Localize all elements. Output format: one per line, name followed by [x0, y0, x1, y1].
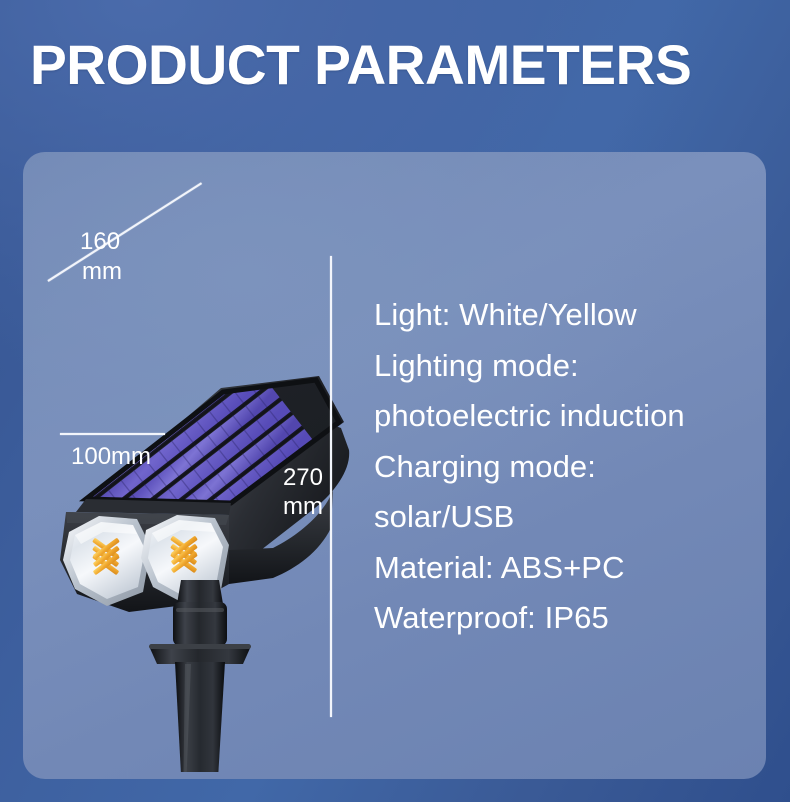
- page-title: PRODUCT PARAMETERS: [30, 34, 755, 96]
- spec-line-lighting-mode-label: Lighting mode:: [374, 341, 754, 392]
- ground-stake: [175, 662, 225, 772]
- product-info-card: 160 mm 100mm 270 mm Light: White/Yellow …: [23, 152, 766, 779]
- dimension-label-height: 270 mm: [279, 463, 323, 521]
- title-bar: PRODUCT PARAMETERS: [0, 34, 790, 104]
- spec-line-material: Material: ABS+PC: [374, 543, 754, 594]
- dimension-line-depth: [60, 433, 165, 435]
- dimension-height-unit: mm: [279, 492, 323, 521]
- spec-line-waterproof: Waterproof: IP65: [374, 593, 754, 644]
- dimension-width-value: 160: [80, 228, 120, 255]
- dimension-label-depth: 100mm: [71, 442, 151, 472]
- dimension-label-width: 160 mm: [80, 227, 122, 287]
- dimension-width-unit: mm: [82, 257, 122, 287]
- led-lens-left: [63, 516, 151, 606]
- spec-line-charging-mode-value: solar/USB: [374, 492, 754, 543]
- product-parameters-page: PRODUCT PARAMETERS: [0, 0, 790, 802]
- dimension-line-height: [330, 256, 332, 717]
- spec-line-lighting-mode-value: photoelectric induction: [374, 391, 754, 442]
- spec-line-charging-mode-label: Charging mode:: [374, 442, 754, 493]
- spec-list: Light: White/Yellow Lighting mode: photo…: [374, 290, 754, 644]
- spec-line-light: Light: White/Yellow: [374, 290, 754, 341]
- dimension-height-value: 270: [283, 464, 323, 491]
